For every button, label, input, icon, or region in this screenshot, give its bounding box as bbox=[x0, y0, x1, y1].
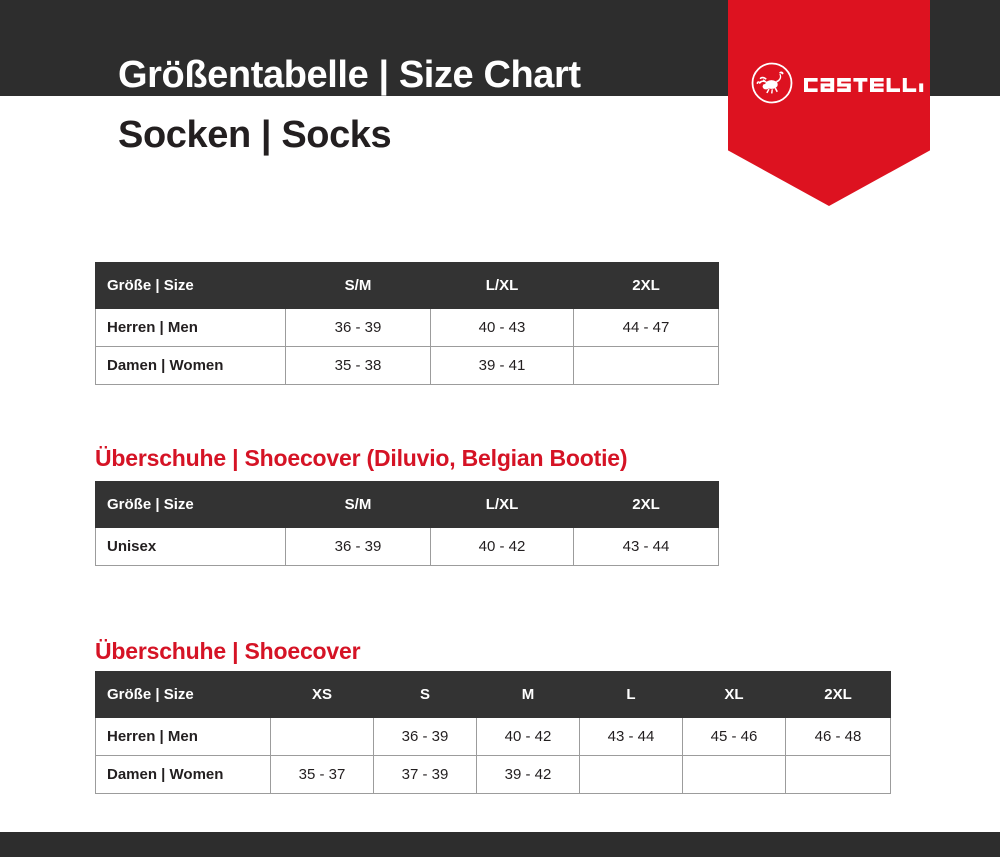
column-header-size: Größe | Size bbox=[96, 263, 286, 309]
table-header-row: Größe | Size S/M L/XL 2XL bbox=[96, 263, 719, 309]
section-heading-shoecover-diluvio: Überschuhe | Shoecover (Diluvio, Belgian… bbox=[95, 447, 627, 470]
cell-unisex-sm: 36 - 39 bbox=[286, 528, 431, 566]
table-row: Herren | Men 36 - 39 40 - 43 44 - 47 bbox=[96, 309, 719, 347]
table-header-row: Größe | Size XS S M L XL 2XL bbox=[96, 672, 891, 718]
table-row: Damen | Women 35 - 37 37 - 39 39 - 42 bbox=[96, 756, 891, 794]
column-header-2xl: 2XL bbox=[574, 263, 719, 309]
column-header-sm: S/M bbox=[286, 482, 431, 528]
section-heading-shoecover: Überschuhe | Shoecover bbox=[95, 640, 360, 663]
table-row: Unisex 36 - 39 40 - 42 43 - 44 bbox=[96, 528, 719, 566]
column-header-size: Größe | Size bbox=[96, 672, 271, 718]
size-chart-page: Größentabelle | Size Chart Socken | Sock… bbox=[0, 0, 1000, 857]
cell-women-2xl bbox=[574, 347, 719, 385]
column-header-lxl: L/XL bbox=[431, 482, 574, 528]
cell-men-xl: 45 - 46 bbox=[683, 718, 786, 756]
table-shoecover-diluvio: Größe | Size S/M L/XL 2XL Unisex 36 - 39… bbox=[95, 481, 719, 566]
column-header-2xl: 2XL bbox=[786, 672, 891, 718]
cell-unisex-2xl: 43 - 44 bbox=[574, 528, 719, 566]
cell-men-2xl: 44 - 47 bbox=[574, 309, 719, 347]
cell-men-2xl: 46 - 48 bbox=[786, 718, 891, 756]
cell-women-s: 37 - 39 bbox=[374, 756, 477, 794]
column-header-xs: XS bbox=[271, 672, 374, 718]
table-header-row: Größe | Size S/M L/XL 2XL bbox=[96, 482, 719, 528]
cell-men-s: 36 - 39 bbox=[374, 718, 477, 756]
page-title: Größentabelle | Size Chart bbox=[118, 56, 581, 94]
cell-men-m: 40 - 42 bbox=[477, 718, 580, 756]
table-shoecover: Größe | Size XS S M L XL 2XL Herren | Me… bbox=[95, 671, 891, 794]
row-label-women: Damen | Women bbox=[96, 756, 271, 794]
cell-women-m: 39 - 42 bbox=[477, 756, 580, 794]
page-subtitle: Socken | Socks bbox=[118, 116, 391, 154]
column-header-lxl: L/XL bbox=[431, 263, 574, 309]
footer-band bbox=[0, 832, 1000, 857]
cell-women-xl bbox=[683, 756, 786, 794]
cell-women-xs: 35 - 37 bbox=[271, 756, 374, 794]
row-label-women: Damen | Women bbox=[96, 347, 286, 385]
cell-men-l: 43 - 44 bbox=[580, 718, 683, 756]
cell-men-lxl: 40 - 43 bbox=[431, 309, 574, 347]
row-label-men: Herren | Men bbox=[96, 718, 271, 756]
cell-men-sm: 36 - 39 bbox=[286, 309, 431, 347]
column-header-2xl: 2XL bbox=[574, 482, 719, 528]
cell-unisex-lxl: 40 - 42 bbox=[431, 528, 574, 566]
column-header-m: M bbox=[477, 672, 580, 718]
column-header-s: S bbox=[374, 672, 477, 718]
cell-women-2xl bbox=[786, 756, 891, 794]
brand-ribbon bbox=[728, 0, 930, 206]
column-header-xl: XL bbox=[683, 672, 786, 718]
column-header-sm: S/M bbox=[286, 263, 431, 309]
column-header-size: Größe | Size bbox=[96, 482, 286, 528]
row-label-unisex: Unisex bbox=[96, 528, 286, 566]
cell-women-lxl: 39 - 41 bbox=[431, 347, 574, 385]
cell-women-sm: 35 - 38 bbox=[286, 347, 431, 385]
table-socks: Größe | Size S/M L/XL 2XL Herren | Men 3… bbox=[95, 262, 719, 385]
row-label-men: Herren | Men bbox=[96, 309, 286, 347]
castelli-scorpion-icon bbox=[750, 61, 794, 105]
table-row: Damen | Women 35 - 38 39 - 41 bbox=[96, 347, 719, 385]
castelli-wordmark bbox=[804, 71, 930, 95]
brand-logo bbox=[728, 60, 930, 106]
table-row: Herren | Men 36 - 39 40 - 42 43 - 44 45 … bbox=[96, 718, 891, 756]
cell-men-xs bbox=[271, 718, 374, 756]
column-header-l: L bbox=[580, 672, 683, 718]
cell-women-l bbox=[580, 756, 683, 794]
